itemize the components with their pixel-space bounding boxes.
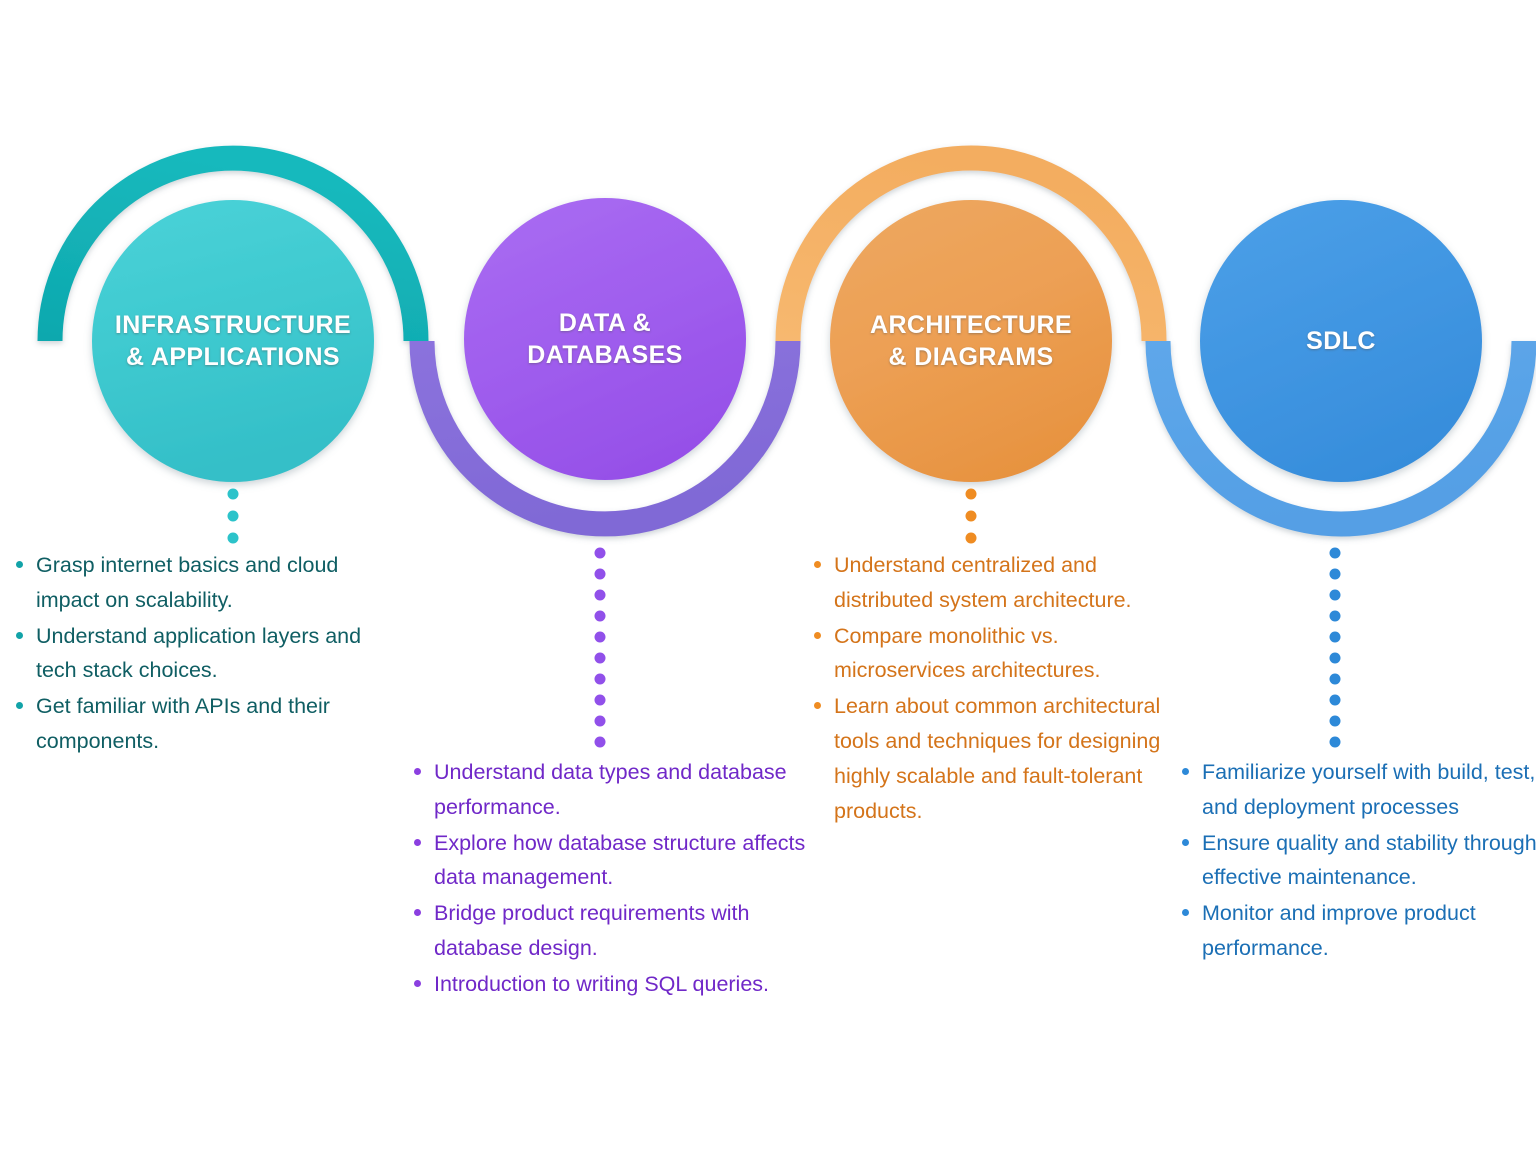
bullet-text: Introduction to writing SQL queries. xyxy=(434,972,769,996)
list-item: Bridge product requirements with databas… xyxy=(412,896,812,966)
list-item: Ensure quality and stability through eff… xyxy=(1180,826,1536,896)
bullet-text: Understand centralized and distributed s… xyxy=(834,553,1132,612)
bullet-text: Grasp internet basics and cloud impact o… xyxy=(36,553,338,612)
list-item: Monitor and improve product performance. xyxy=(1180,896,1536,966)
bullet-text: Understand data types and database perfo… xyxy=(434,760,787,819)
circle-stage-4[interactable] xyxy=(1200,200,1482,482)
bullet-text: Bridge product requirements with databas… xyxy=(434,901,750,960)
bullet-text: Learn about common architectural tools a… xyxy=(834,694,1160,822)
list-item: Familiarize yourself with build, test, a… xyxy=(1180,755,1536,825)
circle-stage-1[interactable] xyxy=(92,200,374,482)
list-item: Understand data types and database perfo… xyxy=(412,755,812,825)
bullet-text: Ensure quality and stability through eff… xyxy=(1202,831,1536,890)
connector-dots-stage-3 xyxy=(966,489,977,544)
bullet-list-stage-1: Grasp internet basics and cloud impact o… xyxy=(14,548,386,760)
bullet-list-stage-4: Familiarize yourself with build, test, a… xyxy=(1180,755,1536,967)
list-item: Learn about common architectural tools a… xyxy=(812,689,1178,828)
bullet-list-stage-3: Understand centralized and distributed s… xyxy=(812,548,1178,830)
connector-dots-stage-2 xyxy=(595,548,606,748)
bullet-text: Familiarize yourself with build, test, a… xyxy=(1202,760,1535,819)
bullet-text: Monitor and improve product performance. xyxy=(1202,901,1476,960)
list-item: Compare monolithic vs. microservices arc… xyxy=(812,619,1178,689)
bullet-text: Compare monolithic vs. microservices arc… xyxy=(834,624,1100,683)
infographic-canvas: INFRASTRUCTURE & APPLICATIONS DATA & DAT… xyxy=(0,0,1536,1151)
list-item: Introduction to writing SQL queries. xyxy=(412,967,812,1002)
bullet-text: Explore how database structure affects d… xyxy=(434,831,805,890)
list-item: Grasp internet basics and cloud impact o… xyxy=(14,548,386,618)
bullet-text: Understand application layers and tech s… xyxy=(36,624,361,683)
connector-dots-stage-1 xyxy=(228,489,239,544)
connector-dots-stage-4 xyxy=(1330,548,1341,748)
list-item: Explore how database structure affects d… xyxy=(412,826,812,896)
bullet-text: Get familiar with APIs and their compone… xyxy=(36,694,330,753)
circle-stage-2[interactable] xyxy=(464,198,746,480)
list-item: Get familiar with APIs and their compone… xyxy=(14,689,386,759)
list-item: Understand centralized and distributed s… xyxy=(812,548,1178,618)
circle-stage-3[interactable] xyxy=(830,200,1112,482)
bullet-list-stage-2: Understand data types and database perfo… xyxy=(412,755,812,1003)
list-item: Understand application layers and tech s… xyxy=(14,619,386,689)
